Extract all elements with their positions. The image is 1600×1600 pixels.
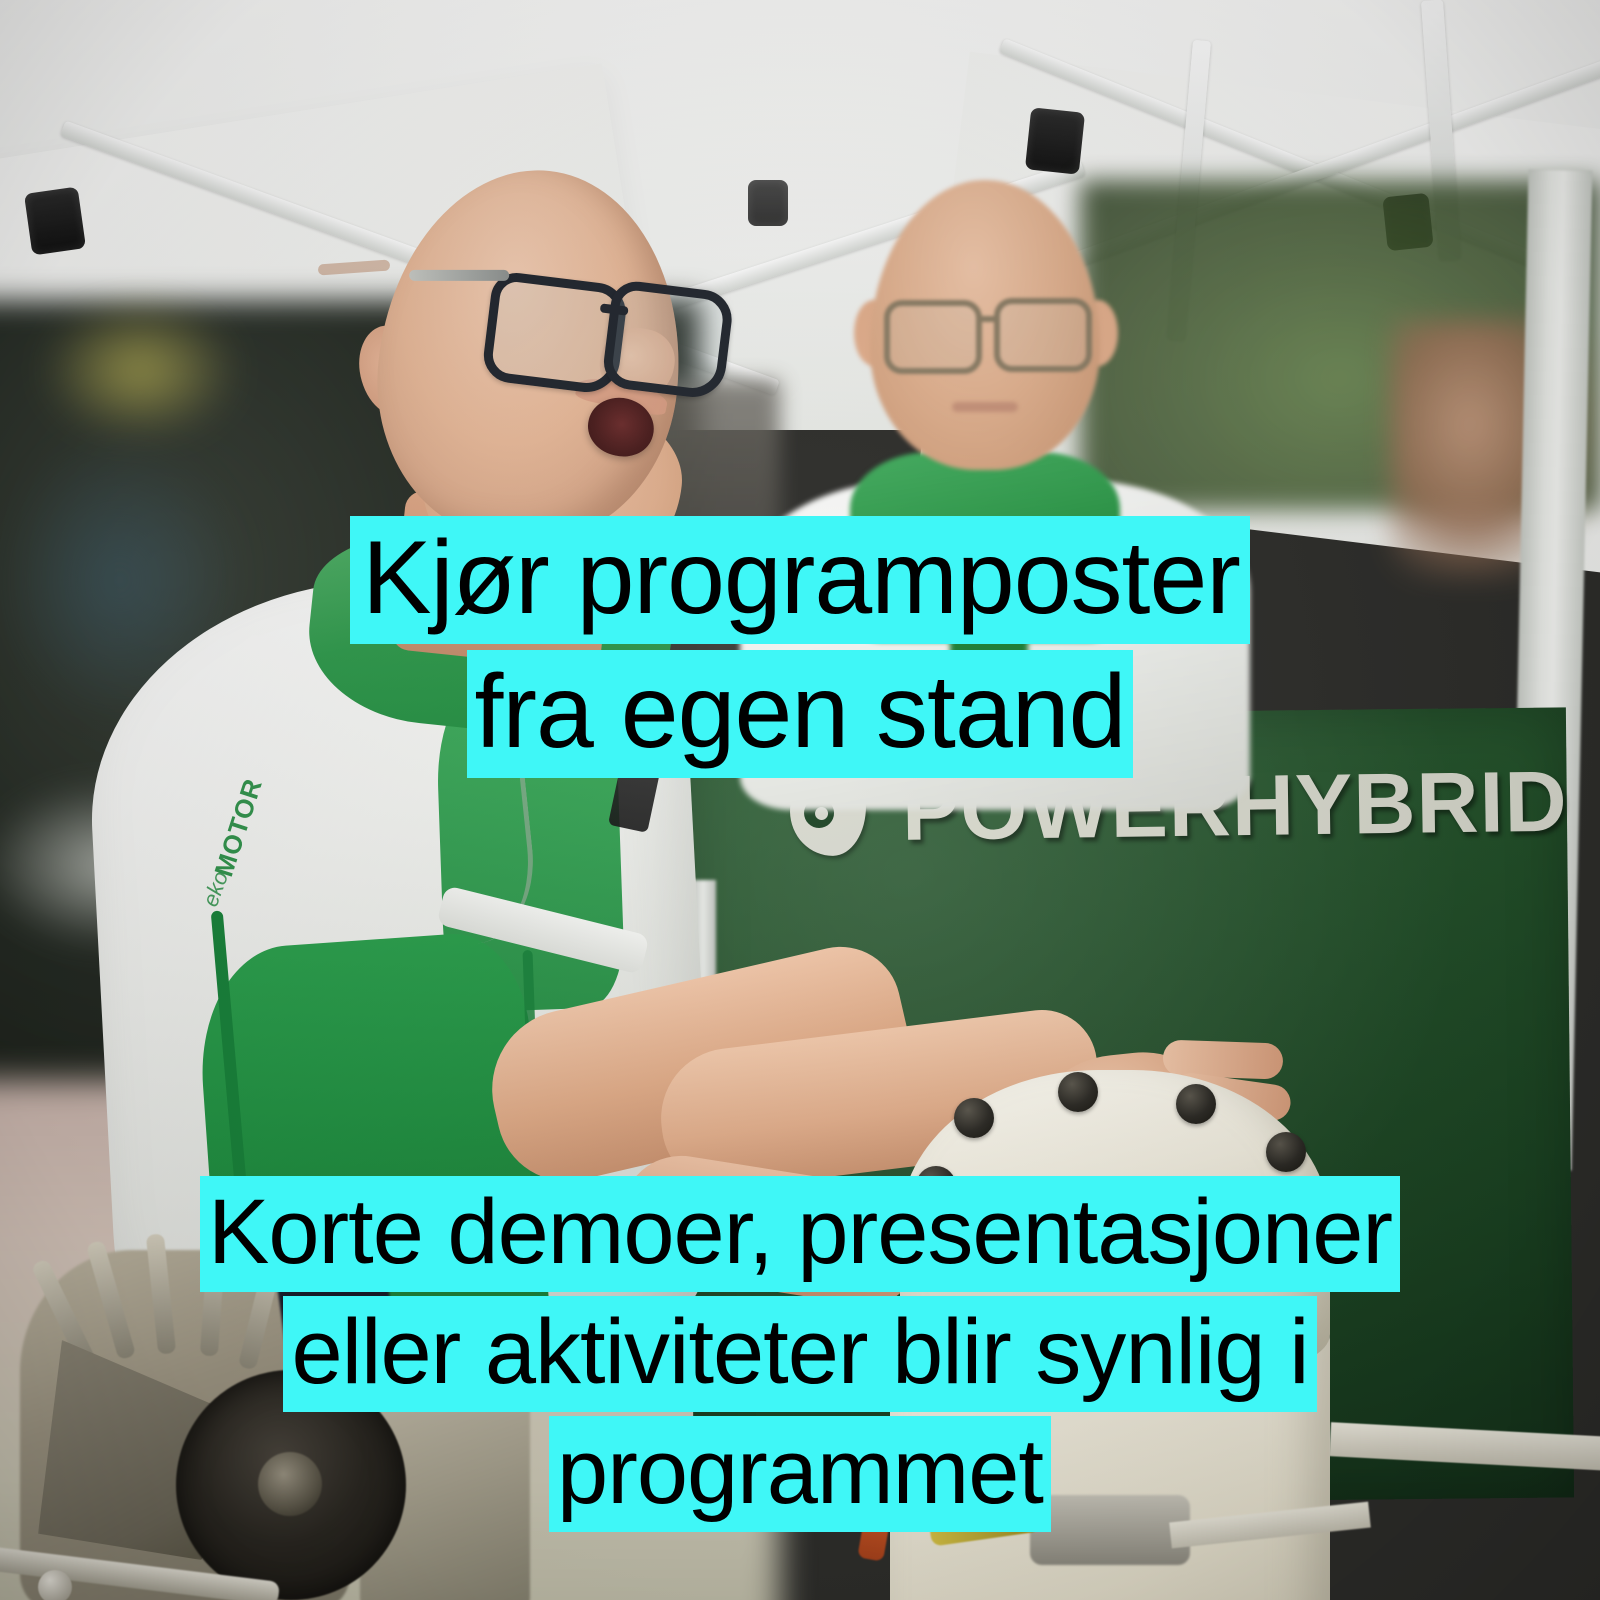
subcaption-line-3: programmet <box>549 1416 1051 1532</box>
headline-line-2: fra egen stand <box>467 650 1134 778</box>
subcaption-line-1: Korte demoer, presentasjoner <box>200 1176 1400 1292</box>
screenshot-canvas: POWERHYBRID MOTOR <box>0 0 1600 1600</box>
subcaption-line-2: eller aktiviteter blir synlig i <box>283 1296 1316 1412</box>
headline-caption: Kjør programposter fra egen stand <box>0 516 1600 778</box>
caption-overlay: Kjør programposter fra egen stand Korte … <box>0 0 1600 1600</box>
headline-line-1: Kjør programposter <box>350 516 1250 644</box>
subcaption: Korte demoer, presentasjoner eller aktiv… <box>0 1176 1600 1532</box>
